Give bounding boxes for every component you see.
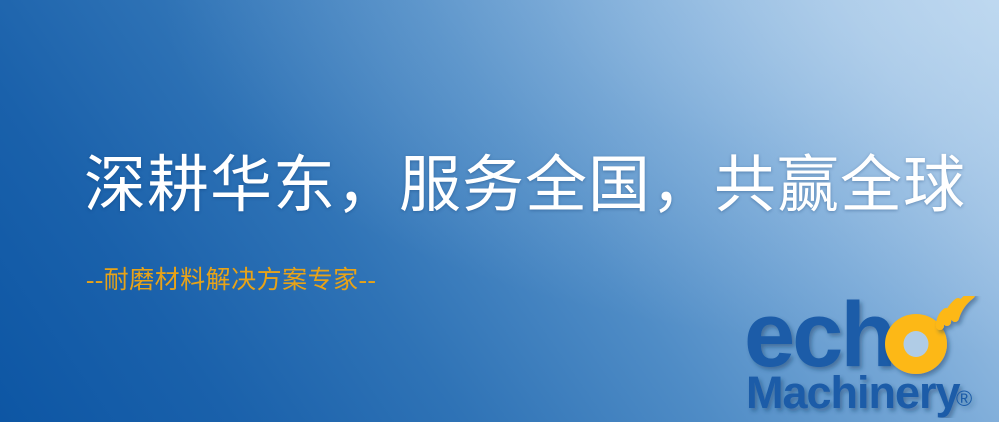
banner-headline: 深耕华东，服务全国，共赢全球 <box>84 152 966 221</box>
logo-signal-arcs-icon <box>940 296 971 326</box>
logo-tagline: Machinery ® <box>746 367 972 418</box>
svg-text:®: ® <box>956 386 972 411</box>
promo-banner: 深耕华东，服务全国，共赢全球 --耐磨材料解决方案专家-- ech <box>0 0 999 422</box>
banner-subtitle: --耐磨材料解决方案专家-- <box>86 266 376 296</box>
echo-machinery-logo: ech Machinery ® <box>744 296 994 418</box>
svg-text:Machinery: Machinery <box>746 367 961 418</box>
